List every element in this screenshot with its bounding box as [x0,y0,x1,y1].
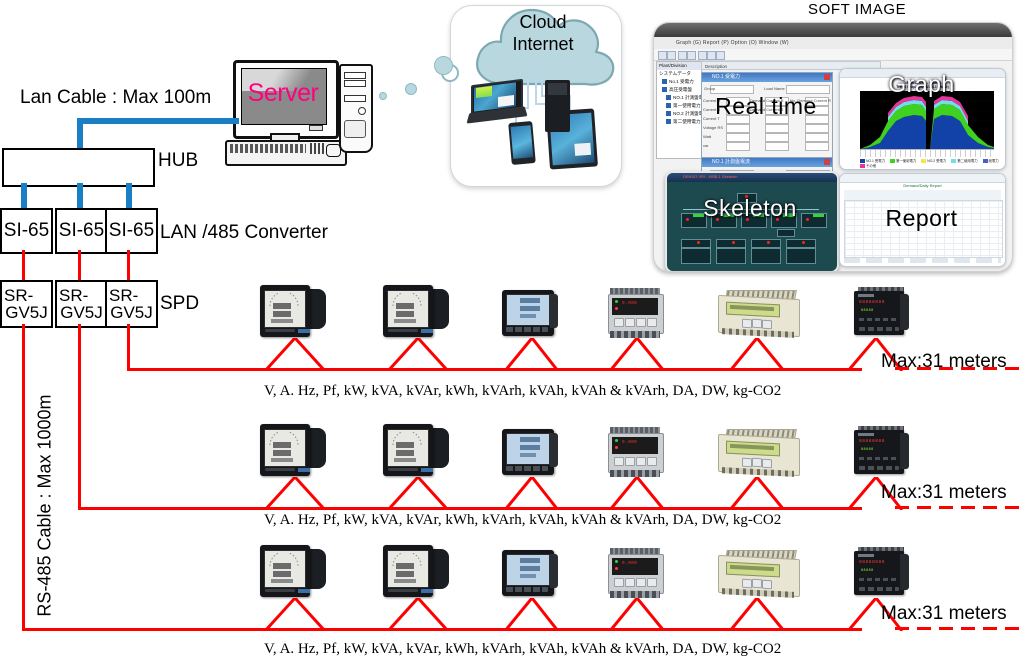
row2-bus-dashed-extension [895,506,1024,509]
meter-round-dial [381,424,451,479]
skeleton-led [767,241,770,244]
spd-label-line2: GV5J [5,304,48,321]
meter-terminal-block-bottom [610,470,660,477]
meter-lcd-panel [502,429,560,479]
skeleton-node[interactable] [786,239,816,248]
value-field[interactable] [726,124,750,133]
meter-display-digits: 0.000 [622,561,637,566]
skeleton-node[interactable] [681,239,711,248]
tree-item[interactable]: NO.2 計測盤電流 [657,110,701,118]
meter-key[interactable] [625,457,635,466]
meter-buttons[interactable] [265,468,295,471]
skeleton-led [802,241,805,244]
meter-side-housing [900,433,909,469]
graph-plot-area [860,91,994,149]
meter-round-dial [381,285,451,340]
rs485-cable-label: RS-485 Cable : Max 1000m [35,366,56,646]
keyboard-keys [230,144,306,153]
cloud-trail-dot-large [434,56,453,75]
group-label: Group [704,86,715,91]
spd-box-2[interactable]: SR- GV5J [55,280,108,328]
meter-key[interactable] [614,578,624,587]
meter-display-digits-3 [394,458,416,462]
meter-display-digits-3 [520,453,536,457]
toolbar-icon-6[interactable] [707,51,716,60]
field-label: var [703,143,709,148]
meter-key[interactable] [636,578,646,587]
meter-din-rail-led: 0.000 [608,548,668,600]
row1-max-meters-label: Max:31 meters [881,351,1007,373]
row2-meter-drops [240,477,920,510]
meter-key[interactable] [752,319,762,329]
skeleton-node[interactable] [681,248,711,264]
meter-round-dial [258,285,328,340]
meter-key[interactable] [647,318,657,327]
meter-display-digits-2 [273,311,291,317]
skeleton-window-caption: DENSO VRI - MSB-1 Skeleton [683,174,737,179]
hub-label: HUB [158,150,198,172]
meter-side-housing [550,294,558,328]
meter-key[interactable] [614,457,624,466]
meter-display-digits-1 [396,563,414,569]
meter-brand-badge [421,329,433,333]
realtime-window-titlebar: NO.1 受電力 [702,73,832,82]
meter-key[interactable] [625,578,635,587]
tree-node-icon [662,79,667,84]
meter-display-digits-1 [520,437,540,442]
meter-key[interactable] [647,457,657,466]
server-label: Server [241,79,325,108]
value-field[interactable] [726,142,750,151]
meter-lcd-panel [502,290,560,340]
meter-display-digits-2 [520,306,540,311]
toolbar-icon-3[interactable] [678,51,687,60]
meter-display-secondary: 88888 [861,448,874,452]
laptop-screen-chart [476,86,492,98]
soft-window-toolbar[interactable] [654,49,1012,61]
skeleton-node[interactable] [716,239,746,248]
meter-round-dial [258,424,328,479]
meter-display-digits-2 [396,311,414,317]
meter-status-led-red [615,307,618,310]
server-tower-panel [548,83,567,95]
tree-node-icon [662,87,667,92]
tree-node-icon [666,103,671,108]
meter-display-digits-1 [273,303,291,309]
spd-label-line1: SR- [107,287,138,304]
meter-display-digits-3 [271,579,293,583]
meter-display-digits-2 [273,450,291,456]
meter-brand-badge [298,468,310,472]
meter-status-led-green [615,560,618,563]
graph-legend: NO.1 受電力 第一使用電力 NO.2 受電力 第二使用電力 総電力 [860,158,999,163]
meter-display-digits: 88888888 [859,300,885,305]
meter-side-housing [900,294,909,330]
pc-tower-vent [344,120,366,138]
meter-status-led-green [615,300,618,303]
tree-node-icon [666,119,671,124]
meter-buttons[interactable] [506,466,548,471]
tree-item[interactable]: No.1 受電力 [657,78,701,86]
value-field[interactable] [805,133,829,142]
skeleton-overlay-label: Skeleton [665,195,835,222]
spd-label-line2: GV5J [110,304,153,321]
toolbar-icon-5[interactable] [698,51,707,60]
meter-display-digits-3 [271,319,293,323]
meter-key[interactable] [742,458,752,468]
converter-spd-link-2 [78,250,81,280]
converter-spd-link-1 [22,250,25,280]
converter-spd-link-3 [127,250,130,280]
skeleton-window-titlebar: DENSO VRI - MSB-1 Skeleton [667,173,837,182]
report-footer-row [844,258,1001,263]
meter-beige-din-lcd [716,550,801,600]
soft-image-panel: Graph (G) Report (P) Option (O) Window (… [653,22,1013,272]
legend-swatch [951,159,956,163]
meter-brand-text [858,554,874,557]
meter-buttons[interactable] [506,327,548,332]
cloud-trail-dot-medium [405,83,417,95]
row3-max-meters-label: Max:31 meters [881,603,1007,625]
laptop-device [468,82,528,128]
meter-terminal-block-bottom [610,331,660,338]
meter-display-digits-2 [273,571,291,577]
cloud-label-line2: Internet [470,34,616,55]
meter-brand-badge [421,468,433,472]
monitor-power-led [309,125,323,131]
meter-display-digits: 88888888 [859,439,885,444]
meter-display-digits-2 [396,571,414,577]
meter-key[interactable] [742,579,752,589]
plant-division-tree[interactable]: Plant/Division システムデータ No.1 受電力 高圧受電盤 NO… [656,61,702,159]
pc-tower-floppy [344,95,366,102]
meter-buttons[interactable] [388,589,418,592]
meter-beige-din-lcd [716,429,801,479]
tree-item[interactable]: 第一使用電力No.1 [657,102,701,110]
meter-side-housing [550,554,558,588]
meter-display-digits: 0.000 [622,301,637,306]
field-label: Watt [703,134,711,139]
converter-group-label: LAN /485 Converter [160,222,328,244]
value-field[interactable] [805,142,829,151]
toolbar-icon-7[interactable] [716,51,725,60]
spd-box-3[interactable]: SR- GV5J [105,280,158,328]
meter-annunciators [859,318,899,321]
meter-key[interactable] [647,578,657,587]
meter-brand-badge [298,589,310,593]
meter-key[interactable] [752,579,762,589]
meter-din-rail-led: 0.000 [608,288,668,340]
smartphone-screen [511,125,534,159]
rs485-trunk-3 [127,324,130,370]
meter-brand-text [858,433,874,436]
soft-window-titlebar [654,23,1012,37]
diagram-canvas: SOFT IMAGE Graph (G) Report (P) Option (… [0,0,1024,662]
legend-swatch [921,159,926,163]
row3-measurements-label: V, A. Hz, Pf, kW, kVA, kVAr, kWh, kVArh,… [264,641,781,658]
realtime-overlay-label: Real time [701,93,831,120]
meter-black-led-panel: 88888888 88888 [854,287,912,341]
meter-display-secondary: 88888 [861,569,874,573]
meter-din-rail-led: 0.000 [608,427,668,479]
meter-display-digits-1 [396,303,414,309]
meter-display-digits-1 [273,563,291,569]
laptop-screen-window [498,95,514,107]
meter-key[interactable] [614,318,624,327]
meter-display-digits: 0.000 [622,440,637,445]
hub-drop-2 [77,183,83,209]
meter-display-digits-3 [394,319,416,323]
value-field[interactable] [765,142,789,151]
meter-display-digits-2 [520,566,540,571]
lan-cable-label: Lan Cable : Max 100m [20,87,211,109]
report-title: Demand/Daily Report [840,183,1005,188]
meter-annunciators [859,457,899,460]
skeleton-led [697,241,700,244]
meter-display-digits-3 [520,574,536,578]
meter-display-secondary: 88888 [861,309,874,313]
graph-x-axis-labels [860,149,994,157]
lan-cable-vertical-to-hub [77,118,83,150]
converter-label: SI-65 [109,221,154,240]
spd-label-line1: SR- [2,287,33,304]
row3-bus-dashed-extension [895,627,1024,630]
tree-item[interactable]: 第二使用電力No.2 [657,118,701,126]
meter-brand-badge [421,589,433,593]
pc-tower-bay-1 [344,72,366,79]
meter-display-digits-1 [273,442,291,448]
skeleton-led [732,241,735,244]
rs485-trunk-1 [22,324,25,631]
meter-brand-badge [298,329,310,333]
meter-key[interactable] [752,458,762,468]
meter-buttons[interactable] [388,468,418,471]
meter-status-led-green [615,439,618,442]
hub-box[interactable] [2,148,155,187]
row3-meter-drops [240,598,920,631]
meter-black-led-panel: 88888888 88888 [854,426,912,480]
tree-node-icon [666,95,671,100]
pc-tower-bay-2 [344,80,366,87]
meter-terminal-block-bottom [610,591,660,598]
converter-label: SI-65 [59,221,104,240]
pc-tower-power-button[interactable] [358,107,366,115]
meter-buttons[interactable] [859,587,899,591]
meter-key[interactable] [762,320,772,330]
meter-buttons[interactable] [859,327,899,331]
soft-image-title: SOFT IMAGE [808,1,906,18]
row2-measurements-label: V, A. Hz, Pf, kW, kVA, kVAr, kWh, kVArh,… [264,512,781,529]
meter-side-housing [550,433,558,467]
meter-buttons[interactable] [265,589,295,592]
graph-stacked-area-chart [860,91,994,149]
meter-key[interactable] [762,580,772,590]
meter-display-digits-2 [520,445,540,450]
server-computer: Server [225,60,370,165]
meter-lcd-panel [502,550,560,600]
hub-drop-3 [126,183,132,209]
meter-key[interactable] [625,318,635,327]
meter-buttons[interactable] [388,329,418,332]
meter-buttons[interactable] [506,587,548,592]
tree-header: Plant/Division [657,62,701,70]
converter-box-1[interactable]: SI-65 [0,208,53,254]
meter-brand-text [858,294,874,297]
field-label: Voltage RS [703,125,723,130]
skeleton-node[interactable] [751,239,781,248]
toolbar-icon-4[interactable] [687,51,696,60]
meter-display-digits-1 [520,558,540,563]
lan-cable-horizontal [77,118,239,124]
tree-item[interactable]: システムデータ [657,70,701,78]
meter-display-digits-3 [271,458,293,462]
tree-node-icon [666,111,671,116]
value-field[interactable] [726,133,750,142]
loadname-label: Load Name [764,86,785,91]
spd-box-1[interactable]: SR- GV5J [0,280,53,328]
row2-max-meters-label: Max:31 meters [881,482,1007,504]
meter-display-digits-2 [396,450,414,456]
meter-display-digits: 88888888 [859,560,885,565]
converter-label: SI-65 [4,221,49,240]
tree-item[interactable]: NO.1 計測盤電流 [657,94,701,102]
realtime-window-2-titlebar: NO.1 計測盤電流 [702,158,832,167]
legend-swatch [890,159,895,163]
spd-label-line1: SR- [57,287,88,304]
meter-key[interactable] [636,457,646,466]
report-window-titlebar [840,174,1005,183]
graph-legend-row2: その他 [860,163,876,168]
skeleton-node[interactable] [777,229,795,237]
close-icon[interactable] [824,159,830,165]
row1-measurements-label: V, A. Hz, Pf, kW, kVA, kVAr, kWh, kVArh,… [264,383,781,400]
meter-round-dial [258,545,328,600]
meter-status-led-red [615,567,618,570]
spd-group-label: SPD [160,293,199,315]
meter-display-digits-3 [520,314,536,318]
meter-side-housing [900,554,909,590]
meter-display-digits-1 [520,298,540,303]
value-field[interactable] [765,133,789,142]
skeleton-node[interactable] [751,248,781,264]
meter-beige-din-lcd [716,290,801,340]
close-icon[interactable] [824,74,830,80]
legend-swatch [983,159,988,163]
meter-round-dial [381,545,451,600]
meter-display-digits-3 [394,579,416,583]
graph-overlay-label: Graph [839,71,1004,98]
legend-swatch [860,164,865,168]
cloud-trail-dot-small [379,92,387,100]
toolbar-icon-1[interactable] [658,51,667,60]
meter-buttons[interactable] [859,466,899,470]
meter-annunciators [859,578,899,581]
value-field[interactable] [805,124,829,133]
keyboard-numpad [310,143,324,154]
row1-meter-drops [240,338,920,371]
tree-item[interactable]: 高圧受電盤 [657,86,701,94]
tablet-screen-window [574,143,591,156]
skeleton-node[interactable] [786,248,816,264]
converter-box-2[interactable]: SI-65 [55,208,108,254]
meter-key[interactable] [762,459,772,469]
value-field[interactable] [765,124,789,133]
report-overlay-label: Report [839,205,1004,232]
meter-display-digits-1 [396,442,414,448]
meter-key[interactable] [636,318,646,327]
rs485-trunk-2 [78,324,81,510]
toolbar-icon-2[interactable] [667,51,676,60]
cloud-label-line1: Cloud [470,12,616,33]
skeleton-node[interactable] [716,248,746,264]
meter-buttons[interactable] [265,329,295,332]
server-tower-device [545,80,570,132]
spd-label-line2: GV5J [60,304,103,321]
smartphone-device [508,121,536,165]
meter-key[interactable] [742,319,752,329]
converter-box-3[interactable]: SI-65 [105,208,158,254]
meter-status-led-red [615,446,618,449]
meter-black-led-panel: 88888888 88888 [854,547,912,601]
hub-drop-1 [21,183,27,209]
